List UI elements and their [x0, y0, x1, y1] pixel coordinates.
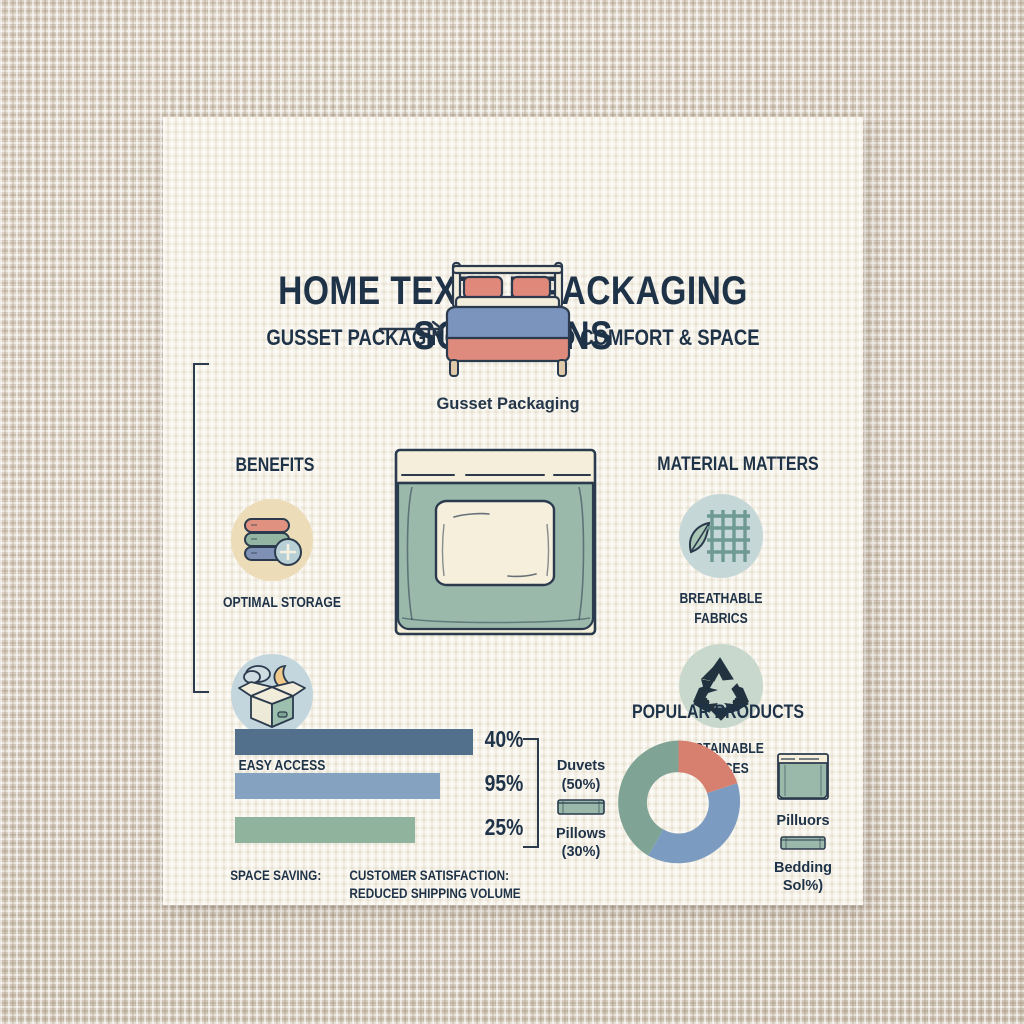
open-box-moon-icon	[231, 654, 313, 736]
breathable-fabrics-icon-circle	[679, 494, 763, 578]
material-matters-heading: MATERIAL MATTERS	[637, 454, 839, 476]
leaf-weave-icon	[679, 494, 763, 578]
benefits-bracket	[193, 363, 209, 693]
bar-space-saving	[235, 729, 473, 755]
gusset-pouch-with-pillow	[388, 442, 603, 642]
optimal-storage-icon-circle	[231, 499, 313, 581]
optimal-storage-label: OPTIMAL STORAGE	[202, 594, 362, 614]
bed-illustration	[433, 257, 583, 382]
bar-value-1: 95%	[485, 770, 524, 797]
donut-slice-coral	[679, 741, 738, 794]
legend-pilluors-name: Pilluors	[758, 812, 848, 831]
bar-caption-line1: CUSTOMER SATISFACTION:	[349, 867, 509, 883]
bar-customer-satisfaction	[235, 773, 440, 799]
donut-legend-right: Pilluors Bedding Sol%)	[758, 752, 848, 896]
bar-caption-space-saving: SPACE SAVING:	[230, 867, 348, 885]
popular-products-heading: POPULAR PRODUCTS	[613, 702, 823, 724]
pouch-icon-right	[776, 752, 830, 802]
chart-bracket	[523, 738, 539, 848]
gusset-packaging-caption: Gusset Packaging	[418, 395, 598, 414]
legend-bedding-pct: Sol%)	[758, 877, 848, 896]
legend-bedding-name: Bedding	[758, 859, 848, 878]
bar-caption-right: CUSTOMER SATISFACTION: REDUCED SHIPPING …	[349, 867, 542, 902]
infographic-card: HOME TEXTILE PACKAGING SOLUTIONS GUSSET …	[163, 117, 863, 905]
breathable-fabrics-line2: FABRICS	[694, 611, 747, 627]
breathable-fabrics-line1: BREATHABLE	[679, 591, 762, 607]
legend-duvets-name: Duvets	[541, 757, 621, 776]
popular-products-donut	[611, 735, 746, 870]
legend-duvets-pct: (50%)	[541, 776, 621, 795]
bar-reduced-shipping-volume	[235, 817, 415, 843]
donut-legend-left: Duvets (50%) Pillows (30%)	[541, 757, 621, 862]
mini-pouch-icon-left	[557, 798, 605, 816]
legend-pillows-name: Pillows	[541, 825, 621, 844]
bar-value-0: 40%	[485, 726, 524, 753]
mini-pouch-icon-right	[780, 835, 826, 851]
donut-slice-blue	[648, 783, 740, 863]
bar-chart: 40% 95% 25% SPACE SAVING: CUSTOMER SATIS…	[235, 729, 535, 909]
legend-pillows-pct: (30%)	[541, 843, 621, 862]
bar-caption-line2: REDUCED SHIPPING VOLUME	[349, 885, 520, 901]
easy-access-icon-circle	[231, 654, 313, 736]
folded-towels-plus-icon	[231, 499, 313, 581]
bar-value-2: 25%	[485, 814, 524, 841]
breathable-fabrics-label: BREATHABLE FABRICS	[641, 590, 801, 629]
